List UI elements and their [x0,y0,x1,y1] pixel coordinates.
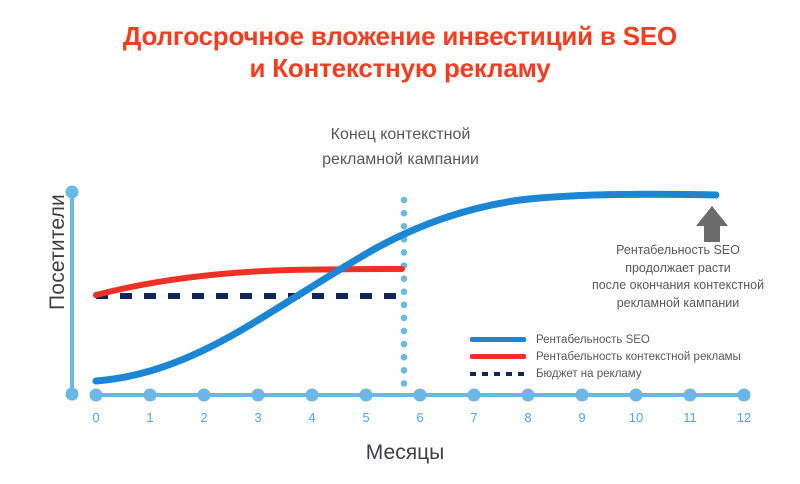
x-tick-label-10: 10 [629,410,643,425]
x-tick-dot-2 [198,389,211,402]
x-tick-dot-10 [630,389,643,402]
x-tick-dot-6 [414,389,427,402]
x-tick-label-4: 4 [308,410,315,425]
annotation-seo-growth-line-1: Рентабельность SEO [556,242,800,260]
x-tick-label-5: 5 [362,410,369,425]
series-contextual-ads-curve [96,269,402,295]
line-swatch-blue [470,331,526,348]
x-tick-dot-12 [738,389,751,402]
annotation-seo-growth-line-4: рекламной кампании [556,295,800,313]
x-tick-label-3: 3 [254,410,261,425]
arrow-up-icon [696,206,728,242]
annotation-seo-growth-line-3: после окончания контекстной [556,277,800,295]
legend-label-budget: Бюджет на рекламу [536,368,642,380]
x-tick-label-1: 1 [146,410,153,425]
x-tick-label-2: 2 [200,410,207,425]
x-axis-title: Месяцы [300,441,510,465]
x-tick-label-6: 6 [416,410,423,425]
legend-item-budget: Бюджет на рекламу [470,365,741,382]
x-tick-label-0: 0 [92,410,99,425]
x-tick-label-9: 9 [578,410,585,425]
x-tick-label-7: 7 [470,410,477,425]
x-tick-dot-7 [468,389,481,402]
annotation-seo-growth: Рентабельность SEO продолжает расти посл… [556,242,800,312]
legend-label-seo: Рентабельность SEO [536,334,650,346]
chart-canvas: Долгосрочное вложение инвестиций в SEO и… [0,0,800,484]
legend-item-seo: Рентабельность SEO [470,331,741,348]
x-tick-dot-11 [684,389,697,402]
line-swatch-dashed [470,365,526,382]
x-axis-tick-labels: 0 1 2 3 4 5 6 7 8 9 10 11 12 [92,410,751,425]
annotation-seo-growth-line-2: продолжает расти [556,260,800,278]
x-tick-dot-8 [522,389,535,402]
chart-legend: Рентабельность SEO Рентабельность контек… [470,331,741,382]
legend-item-contextual-ads: Рентабельность контекстной рекламы [470,348,741,365]
x-tick-dot-5 [360,389,373,402]
x-tick-dot-1 [144,389,157,402]
y-axis-cap-bottom [66,388,79,401]
x-tick-label-8: 8 [524,410,531,425]
line-swatch-red [470,348,526,365]
x-tick-dot-4 [306,389,319,402]
legend-label-contextual-ads: Рентабельность контекстной рекламы [536,351,741,363]
x-tick-dot-0 [90,389,103,402]
x-tick-dot-3 [252,389,265,402]
x-tick-label-11: 11 [683,410,697,425]
x-tick-label-12: 12 [737,410,751,425]
y-axis-title: Посетители [46,157,70,347]
x-tick-dot-9 [576,389,589,402]
